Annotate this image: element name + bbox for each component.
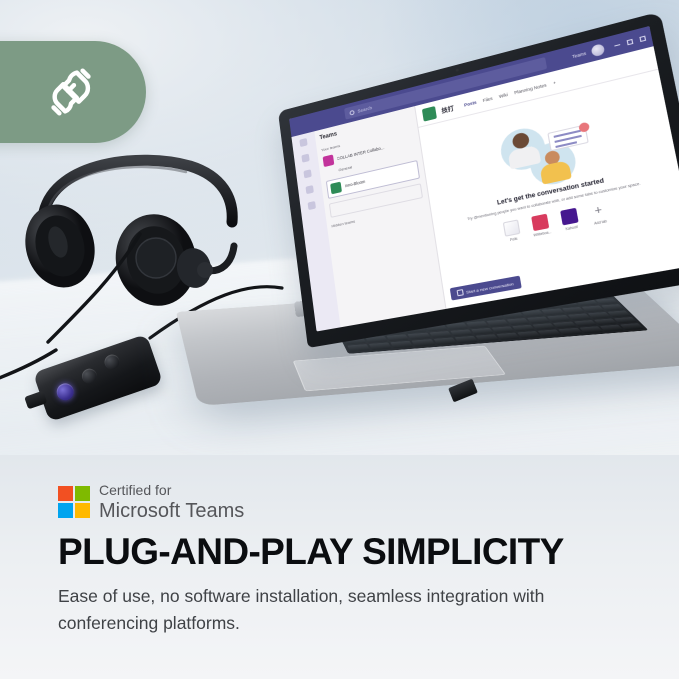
microsoft-teams-label: Microsoft Teams	[99, 500, 244, 522]
whiteboard-icon	[531, 214, 549, 232]
tab-files[interactable]: Files	[482, 96, 493, 103]
new-conversation-label: Start a new conversation	[466, 281, 514, 295]
certified-for-label: Certified for	[99, 482, 171, 498]
compose-icon	[456, 289, 463, 296]
product-photo: MacBook Pro Search Teams	[0, 0, 679, 470]
channel-avatar	[421, 106, 436, 122]
app-whiteboard[interactable]: Whiteboa...	[530, 214, 552, 238]
page-title: PLUG-AND-PLAY SIMPLICITY	[58, 531, 564, 573]
plug-badge	[0, 41, 146, 143]
product-marketing-image: MacBook Pro Search Teams	[0, 0, 679, 679]
search-icon	[350, 109, 355, 115]
team-name: Inno-Bloom	[344, 179, 365, 188]
app-add-tab[interactable]: + Add tab	[589, 202, 609, 226]
team-avatar	[330, 182, 342, 195]
search-placeholder: Search	[357, 105, 372, 113]
app-label: Whiteboa...	[533, 230, 552, 238]
close-icon[interactable]	[639, 35, 646, 42]
marketing-text-block: Certified for Microsoft Teams PLUG-AND-P…	[0, 455, 679, 679]
app-label: Add tab	[594, 219, 608, 226]
channel-title: 技打	[441, 104, 455, 116]
files-icon[interactable]	[308, 201, 316, 210]
window-controls[interactable]	[614, 35, 646, 48]
activity-icon[interactable]	[300, 138, 308, 147]
plug-connector-icon	[40, 61, 102, 123]
teams-icon[interactable]	[304, 170, 312, 179]
kahoot-icon	[561, 208, 580, 226]
laptop: MacBook Pro Search Teams	[176, 96, 676, 466]
avatar[interactable]	[591, 43, 606, 57]
calendar-icon[interactable]	[306, 185, 314, 194]
tab-planning-notes[interactable]: Planning Notes	[514, 83, 547, 96]
user-name-label: Teams	[572, 50, 587, 58]
certification-text: Certified for Microsoft Teams	[99, 482, 244, 522]
chat-icon[interactable]	[302, 154, 310, 163]
microsoft-logo-icon	[58, 486, 90, 518]
app-label: Kahoot!	[565, 225, 578, 232]
app-label: Polls	[510, 237, 518, 243]
team-avatar	[322, 155, 334, 168]
maximize-icon[interactable]	[627, 38, 634, 45]
app-kahoot[interactable]: Kahoot!	[561, 208, 581, 232]
app-polls[interactable]: Polls	[503, 220, 522, 244]
webcam-icon	[455, 68, 459, 72]
minimize-icon[interactable]	[614, 42, 620, 46]
plus-icon: +	[589, 202, 608, 220]
tab-posts[interactable]: Posts	[464, 100, 477, 108]
page-subheading: Ease of use, no software installation, s…	[58, 583, 638, 637]
certified-for-microsoft-teams-lockup: Certified for Microsoft Teams	[58, 482, 244, 522]
new-conversation-button[interactable]: Start a new conversation	[449, 276, 521, 301]
tab-wiki[interactable]: Wiki	[499, 92, 509, 99]
add-tab-button[interactable]: +	[553, 80, 557, 86]
polls-icon	[503, 220, 521, 237]
